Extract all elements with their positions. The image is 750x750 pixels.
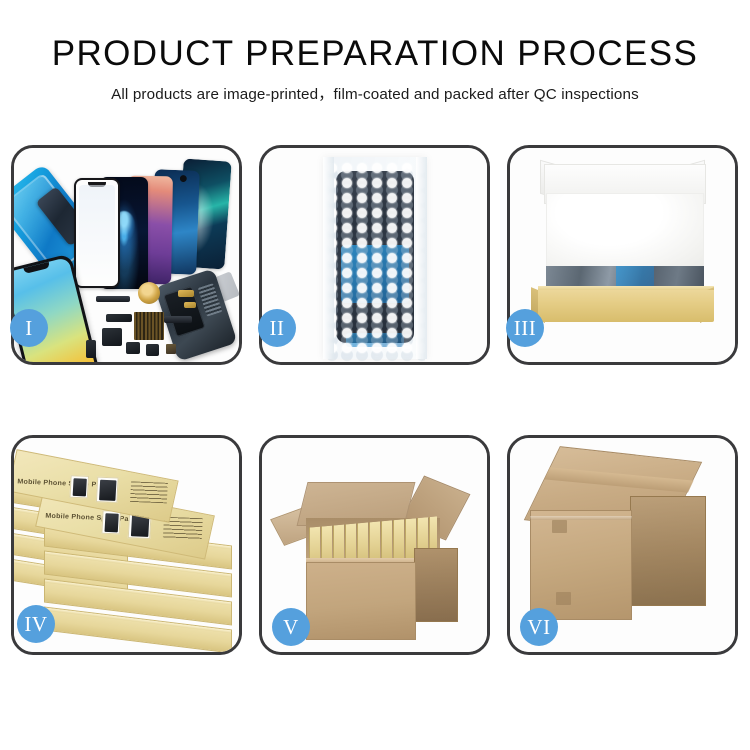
page-title: PRODUCT PREPARATION PROCESS — [0, 33, 750, 75]
carton-front-panel — [306, 562, 416, 640]
step-badge-6: VI — [520, 608, 558, 646]
process-step-card-1[interactable]: I — [11, 145, 242, 365]
process-step-card-6[interactable]: VI — [507, 435, 738, 655]
spare-part-speaker-coil — [138, 282, 160, 304]
lid-screen-image-b1 — [96, 477, 119, 503]
bubble-wrap-bag — [323, 157, 427, 359]
process-step-card-4[interactable]: Mobile Phone Spare Parts Mobile Phone Sp… — [11, 435, 242, 655]
process-step-card-2[interactable]: II — [259, 145, 490, 365]
step-badge-4: IV — [17, 605, 55, 643]
spare-part-strip-2 — [106, 314, 132, 322]
lid-screen-image-a2 — [101, 510, 121, 534]
spare-part-bracket-2 — [126, 342, 140, 354]
foam-liner — [546, 193, 704, 271]
box-front-panel — [538, 290, 714, 322]
spare-part-camera — [146, 344, 159, 356]
bubble-highlights — [325, 161, 425, 357]
carton-crease — [530, 516, 632, 520]
carton-front-face — [530, 510, 632, 620]
lid-screen-image-a1 — [69, 475, 89, 498]
spare-part-mesh — [134, 312, 164, 340]
process-step-card-3[interactable]: III — [507, 145, 738, 365]
bag-seam-right — [416, 157, 427, 359]
spare-part-flex-3 — [164, 316, 192, 323]
bag-seam-left — [323, 157, 334, 359]
carton-side-panel — [414, 548, 458, 622]
tempered-glass-protector — [74, 178, 120, 288]
step-badge-5: V — [272, 608, 310, 646]
carton-tab-bottom — [556, 592, 571, 605]
process-step-grid: I II III — [11, 145, 739, 655]
spare-part-strip-1 — [96, 296, 130, 302]
spare-part-flex-1 — [178, 290, 194, 297]
page-header: PRODUCT PREPARATION PROCESS All products… — [0, 0, 750, 106]
process-step-card-5[interactable]: V — [259, 435, 490, 655]
spare-part-sim-tray — [86, 340, 96, 358]
step-badge-1: I — [10, 309, 48, 347]
step-badge-3: III — [506, 309, 544, 347]
spare-part-chip — [166, 344, 176, 354]
spare-part-flex-2 — [184, 302, 196, 308]
page-subtitle: All products are image-printed，film-coat… — [0, 84, 750, 106]
lid-spec-lines-1 — [130, 481, 168, 503]
carton-right-side — [630, 496, 706, 606]
spare-part-bracket-1 — [102, 328, 122, 346]
carton-tab-top — [552, 520, 567, 533]
step-badge-2: II — [258, 309, 296, 347]
